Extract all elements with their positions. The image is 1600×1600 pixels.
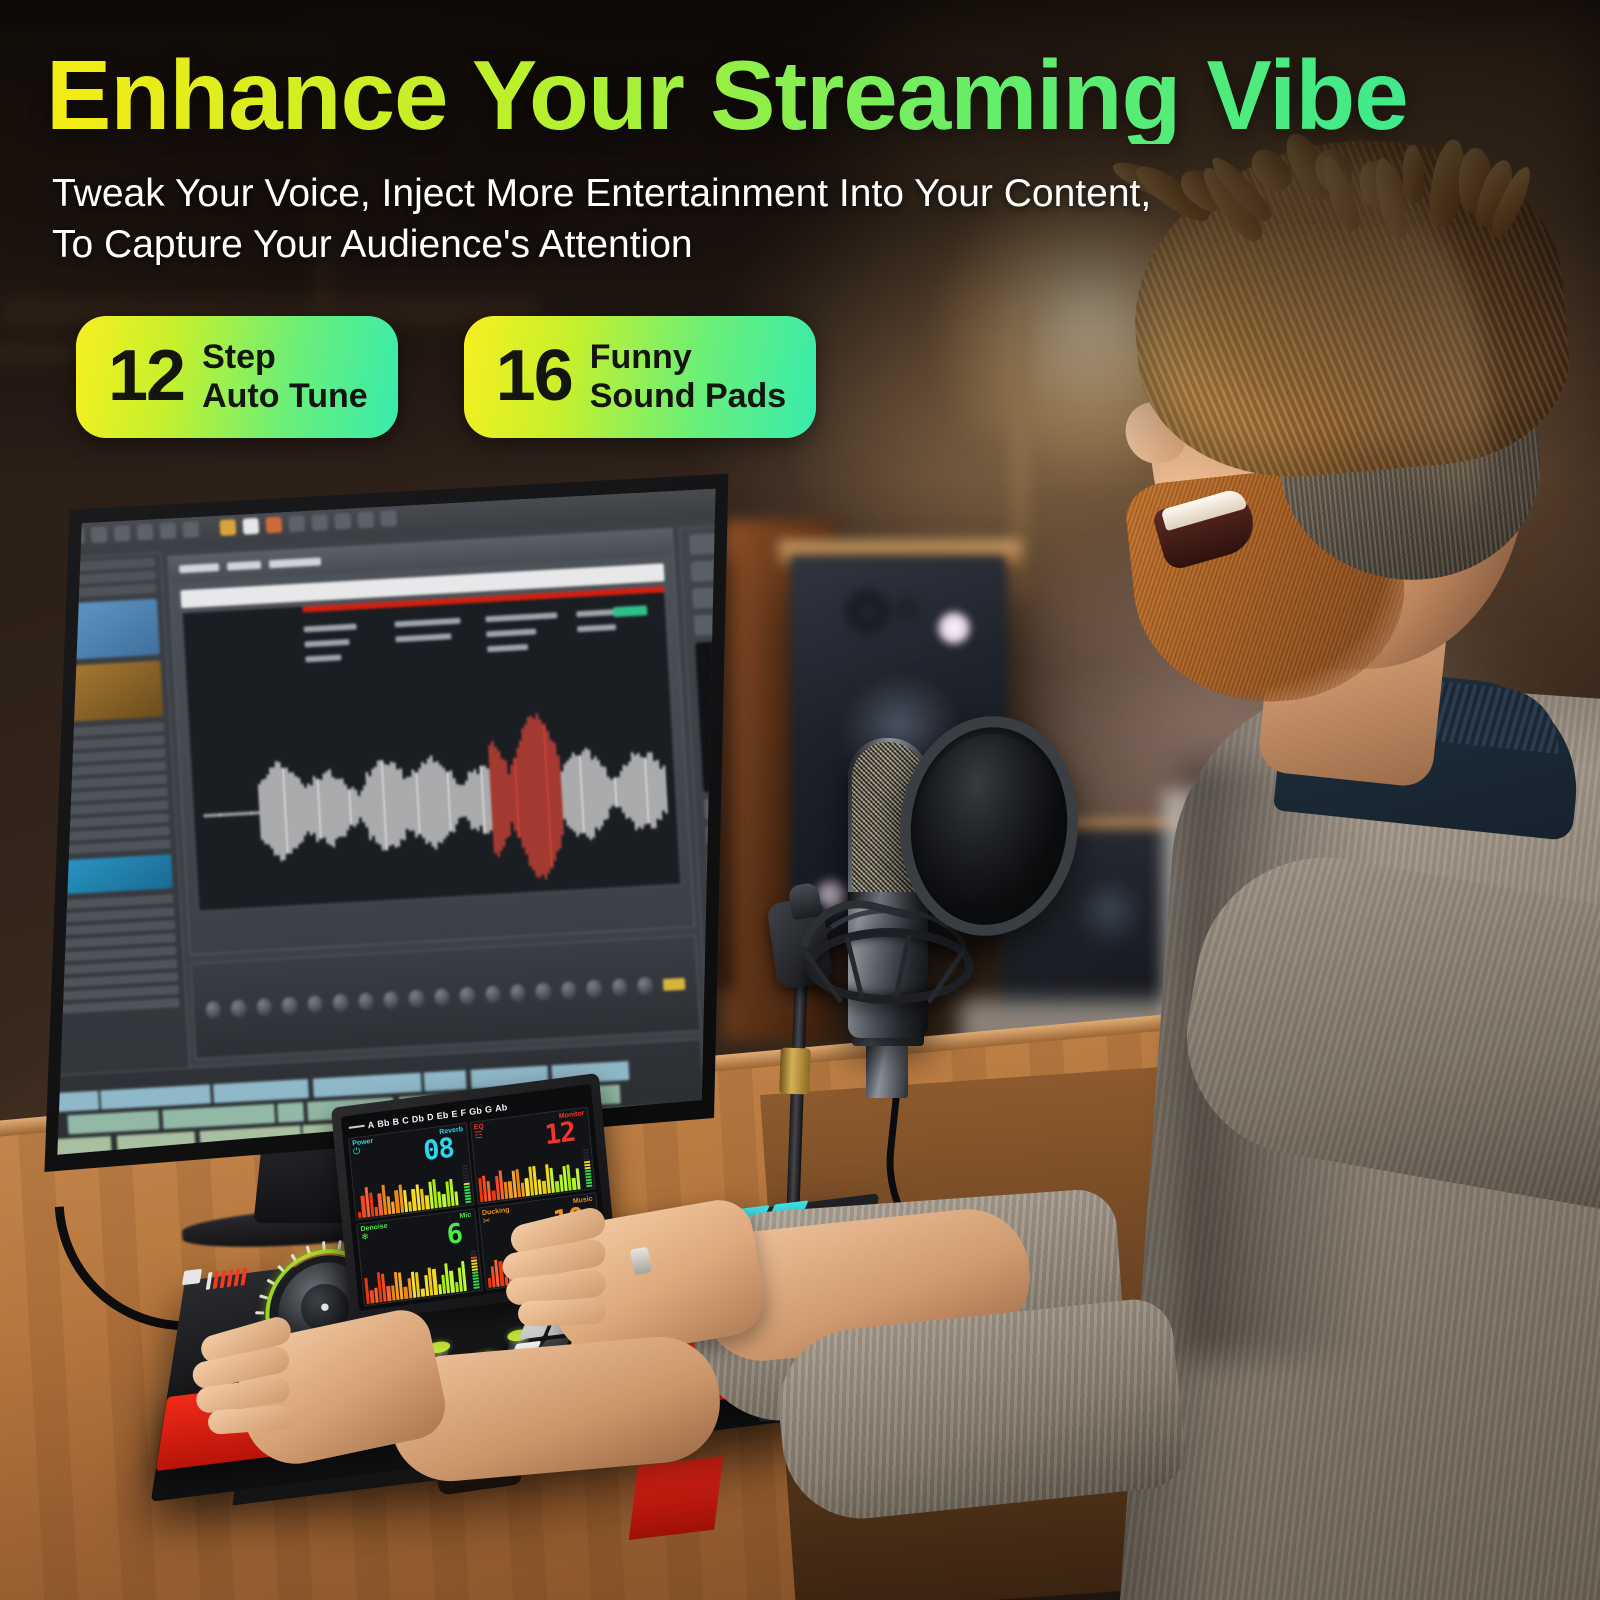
level-segment xyxy=(473,1286,479,1289)
badge-number: 12 xyxy=(108,344,184,409)
spectrum-bar xyxy=(449,1271,454,1293)
spectrum-bar xyxy=(358,1211,362,1218)
page-subtitle: Tweak Your Voice, Inject More Entertainm… xyxy=(52,168,1172,271)
note-bb[interactable]: Bb xyxy=(377,1117,390,1129)
waveform-bar xyxy=(250,811,252,814)
title-bar-chip xyxy=(135,472,175,482)
editor-tab[interactable] xyxy=(269,557,321,568)
mixer-strip-knob[interactable] xyxy=(205,1001,221,1020)
toolbar-button[interactable] xyxy=(334,513,351,530)
daw-editor-window[interactable] xyxy=(167,528,695,956)
waveform-bar xyxy=(207,814,209,817)
mixer-strip-knob[interactable] xyxy=(383,991,399,1010)
spectrum-bar xyxy=(421,1289,425,1297)
speaker-tweeter xyxy=(846,590,890,634)
plugin-label-line xyxy=(394,618,460,628)
led-segment xyxy=(213,1271,220,1289)
browser-thumbnail[interactable] xyxy=(30,661,163,727)
mixer-strip-knob[interactable] xyxy=(561,981,577,1000)
jog-tick xyxy=(255,1312,264,1315)
mixer-strip-knob[interactable] xyxy=(307,995,323,1014)
waveform-bar xyxy=(256,811,258,814)
title-bar-chip xyxy=(30,480,33,491)
badge-label: Funny Sound Pads xyxy=(590,338,786,416)
track-header[interactable] xyxy=(30,1185,50,1190)
mixer-strip-knob[interactable] xyxy=(281,996,297,1015)
feature-badge-list: 12 Step Auto Tune 16 Funny Sound Pads xyxy=(76,316,816,438)
speaker-power-led xyxy=(938,612,970,644)
plugin-label-column xyxy=(485,612,565,706)
waveform-bar xyxy=(213,813,215,816)
editor-tab[interactable] xyxy=(227,561,261,571)
spectrum-bar xyxy=(442,1194,446,1207)
timeline-clip[interactable] xyxy=(424,1070,467,1091)
plugin-label-line xyxy=(577,624,616,632)
waveform-bar xyxy=(216,813,218,816)
note-gb[interactable]: Gb xyxy=(469,1105,483,1117)
toolbar-button[interactable] xyxy=(311,514,328,531)
led-segment xyxy=(206,1271,213,1289)
track-header[interactable] xyxy=(30,1093,45,1116)
spectrum-bar xyxy=(370,1290,374,1303)
mixer-pane-mic[interactable]: DenoiseMic❄6 xyxy=(356,1208,482,1306)
mixer-pane-value: 08 xyxy=(422,1137,454,1163)
waveform-bar xyxy=(238,812,240,815)
promo-banner: ⏺ A Bb B C Db D Eb E F Gb G xyxy=(0,0,1600,1600)
mixer-pane-level-meter xyxy=(458,1126,471,1203)
spectrum-bar xyxy=(492,1190,496,1201)
timeline-clip[interactable] xyxy=(52,1181,126,1190)
toolbar-button[interactable] xyxy=(137,524,154,541)
mixer-strip-knob[interactable] xyxy=(332,994,348,1013)
mixer-strip-knob[interactable] xyxy=(256,998,272,1017)
level-segment xyxy=(586,1185,592,1188)
feature-badge-sound-pads[interactable]: 16 Funny Sound Pads xyxy=(464,316,817,438)
browser-thumbnail[interactable] xyxy=(30,854,173,898)
led-segment xyxy=(227,1269,234,1287)
mixer-front-leg-right xyxy=(629,1456,723,1540)
toolbar-button[interactable] xyxy=(380,510,397,527)
toolbar-button[interactable] xyxy=(114,525,131,542)
waveform-bar xyxy=(204,814,206,817)
mixer-strip-indicator xyxy=(663,978,686,991)
badge-label-line2: Auto Tune xyxy=(202,377,368,415)
male-streamer xyxy=(1030,120,1600,1600)
mixer-pane-reverb[interactable]: PowerReverb⏻08 xyxy=(348,1122,474,1220)
plugin-label-line xyxy=(304,624,357,633)
waveform-bar xyxy=(235,812,237,815)
mixer-strip-knob[interactable] xyxy=(231,999,247,1018)
mixer-pane-value: 6 xyxy=(446,1223,463,1247)
page-title: Enhance Your Streaming Vibe xyxy=(46,46,1566,144)
plugin-label-column xyxy=(576,607,656,701)
mixer-strip-knob[interactable] xyxy=(485,985,501,1004)
computer-monitor xyxy=(30,470,750,1190)
mixer-strip-knob[interactable] xyxy=(408,989,424,1008)
plugin-label-line xyxy=(304,639,349,648)
title-bar-chip xyxy=(39,478,69,488)
spectrum-bar xyxy=(404,1286,408,1299)
badge-label-line2: Sound Pads xyxy=(590,377,786,415)
speaker-port xyxy=(896,598,918,620)
led-segment xyxy=(234,1268,241,1286)
badge-number: 16 xyxy=(496,344,572,409)
monitor-screen xyxy=(30,470,750,1190)
scale-indicator-dash xyxy=(349,1124,365,1128)
note-f[interactable]: F xyxy=(460,1107,467,1118)
note-d[interactable]: D xyxy=(427,1111,435,1122)
mixer-pane-monitor[interactable]: EQMonitor☲12 xyxy=(469,1107,595,1205)
inspector-knob[interactable] xyxy=(735,905,750,926)
mixer-pane-level-meter xyxy=(579,1110,592,1187)
plugin-label-column xyxy=(304,622,384,716)
mixer-strip-knob[interactable] xyxy=(535,982,551,1001)
mixer-pane-value: 12 xyxy=(544,1121,576,1147)
note-eb[interactable]: Eb xyxy=(436,1109,449,1121)
toolbar-button[interactable] xyxy=(183,521,200,538)
feature-badge-auto-tune[interactable]: 12 Step Auto Tune xyxy=(76,316,398,438)
spectrum-bar xyxy=(572,1178,576,1190)
waveform-bar xyxy=(247,811,249,814)
daw-mixer-strip[interactable] xyxy=(190,935,701,1059)
toolbar-button-record[interactable] xyxy=(219,519,236,536)
mixer-strip-knob[interactable] xyxy=(586,979,602,998)
mixer-strip-knob[interactable] xyxy=(611,978,627,997)
timeline-clip[interactable] xyxy=(68,1110,160,1134)
level-segment xyxy=(465,1201,471,1204)
mixer-strip-knob[interactable] xyxy=(358,992,374,1011)
spectrum-bar xyxy=(438,1284,442,1294)
toolbar-button[interactable] xyxy=(30,530,39,547)
browser-thumbnail[interactable] xyxy=(30,599,160,665)
toolbar-button-play[interactable] xyxy=(242,518,259,535)
track-header[interactable] xyxy=(30,1116,47,1139)
toolbar-button-stop[interactable] xyxy=(265,517,282,534)
mixer-strip-knob[interactable] xyxy=(510,984,526,1003)
toolbar-button[interactable] xyxy=(45,529,62,546)
toolbar-button[interactable] xyxy=(160,522,177,539)
daw-waveform-panel[interactable] xyxy=(182,585,682,912)
toolbar-button[interactable] xyxy=(288,515,305,532)
note-ab[interactable]: Ab xyxy=(495,1102,508,1114)
note-a[interactable]: A xyxy=(367,1119,375,1130)
waveform-bar xyxy=(241,812,243,815)
plugin-status-chip xyxy=(613,605,648,617)
waveform-bar xyxy=(219,813,221,816)
audio-waveform[interactable] xyxy=(189,694,681,911)
note-e[interactable]: E xyxy=(451,1108,458,1119)
mic-stand-brass-collar xyxy=(779,1047,811,1094)
note-b[interactable]: B xyxy=(392,1116,400,1127)
mixer-strip-knob[interactable] xyxy=(637,977,653,996)
waveform-bar xyxy=(229,812,231,815)
inspector-button-record[interactable] xyxy=(713,957,750,981)
mixer-brand-logo xyxy=(182,1269,202,1286)
plugin-label-line xyxy=(487,644,528,652)
waveform-bar xyxy=(222,813,224,816)
led-segment xyxy=(220,1270,227,1288)
timeline-clip[interactable] xyxy=(126,1179,165,1190)
waveform-bar xyxy=(244,811,246,814)
spectrum-bar xyxy=(454,1191,459,1205)
note-db[interactable]: Db xyxy=(411,1112,424,1124)
badge-label-line1: Step xyxy=(202,338,276,376)
daw-application-window xyxy=(30,470,750,1190)
waveform-bar xyxy=(210,813,212,816)
finger xyxy=(518,1298,607,1326)
waveform-bar xyxy=(232,812,234,815)
title-bar-chip xyxy=(75,475,129,486)
toolbar-button[interactable] xyxy=(91,526,108,543)
mixer-pane-level-meter xyxy=(466,1212,479,1289)
plugin-label-line xyxy=(485,612,557,622)
editor-tab[interactable] xyxy=(179,563,219,573)
spectrum-bar xyxy=(487,1278,491,1288)
spectrum-bar xyxy=(425,1195,430,1209)
badge-label: Step Auto Tune xyxy=(202,338,368,416)
note-c[interactable]: C xyxy=(402,1114,410,1125)
mixer-strip-knob[interactable] xyxy=(459,986,475,1005)
plugin-label-line xyxy=(305,654,341,662)
plugin-label-line xyxy=(486,629,536,638)
jog-tick xyxy=(337,1240,341,1249)
plugin-label-column xyxy=(394,617,474,711)
waveform-bar xyxy=(225,813,227,816)
note-g[interactable]: G xyxy=(484,1104,492,1115)
spectrum-bar xyxy=(555,1181,559,1192)
toolbar-button[interactable] xyxy=(357,511,374,528)
mixer-strip-knob[interactable] xyxy=(434,988,450,1007)
badge-label-line1: Funny xyxy=(590,338,692,376)
mixer-pane-spectrum xyxy=(364,1261,468,1304)
plugin-label-line xyxy=(395,633,451,642)
waveform-bar xyxy=(253,811,255,814)
